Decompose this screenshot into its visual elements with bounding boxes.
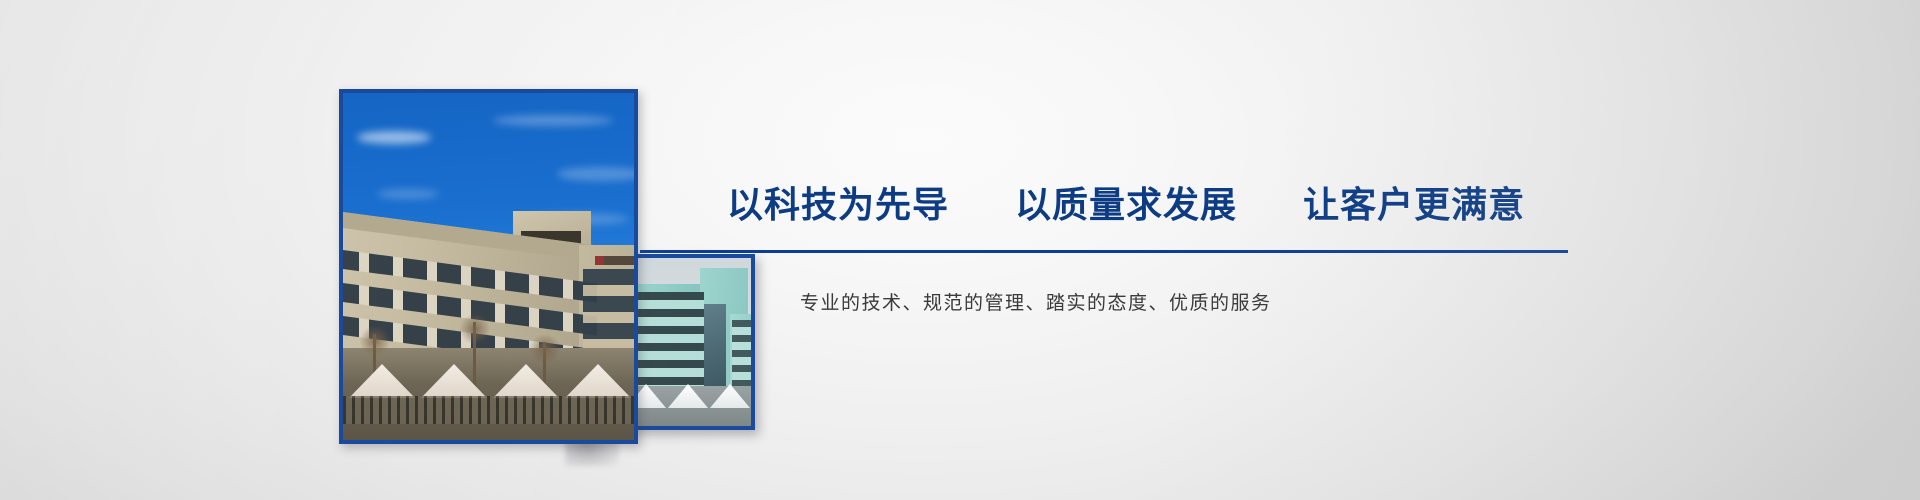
perimeter-fence (343, 396, 634, 424)
slogan-text-block: 以科技为先导 以质量求发展 让客户更满意 专业的技术、规范的管理、踏实的态度、优… (640, 0, 1920, 500)
slogan-headline: 以科技为先导 以质量求发展 让客户更满意 (727, 176, 1525, 228)
slogan-subline: 专业的技术、规范的管理、踏实的态度、优质的服务 (800, 288, 1272, 315)
cloud (377, 189, 439, 199)
horizontal-divider (640, 250, 1568, 253)
main-photo-scene (343, 93, 634, 440)
cloud (493, 115, 613, 126)
slogan-segment-3: 让客户更满意 (1303, 176, 1525, 228)
company-slogan-banner: 以科技为先导 以质量求发展 让客户更满意 专业的技术、规范的管理、踏实的态度、优… (0, 0, 1920, 500)
main-building-photo (339, 89, 638, 444)
slogan-segment-2: 以质量求发展 (1015, 176, 1237, 228)
cloud (357, 131, 431, 144)
cloud (557, 167, 634, 181)
slogan-segment-1: 以科技为先导 (727, 176, 949, 228)
rooftop-company-sign (595, 256, 634, 265)
